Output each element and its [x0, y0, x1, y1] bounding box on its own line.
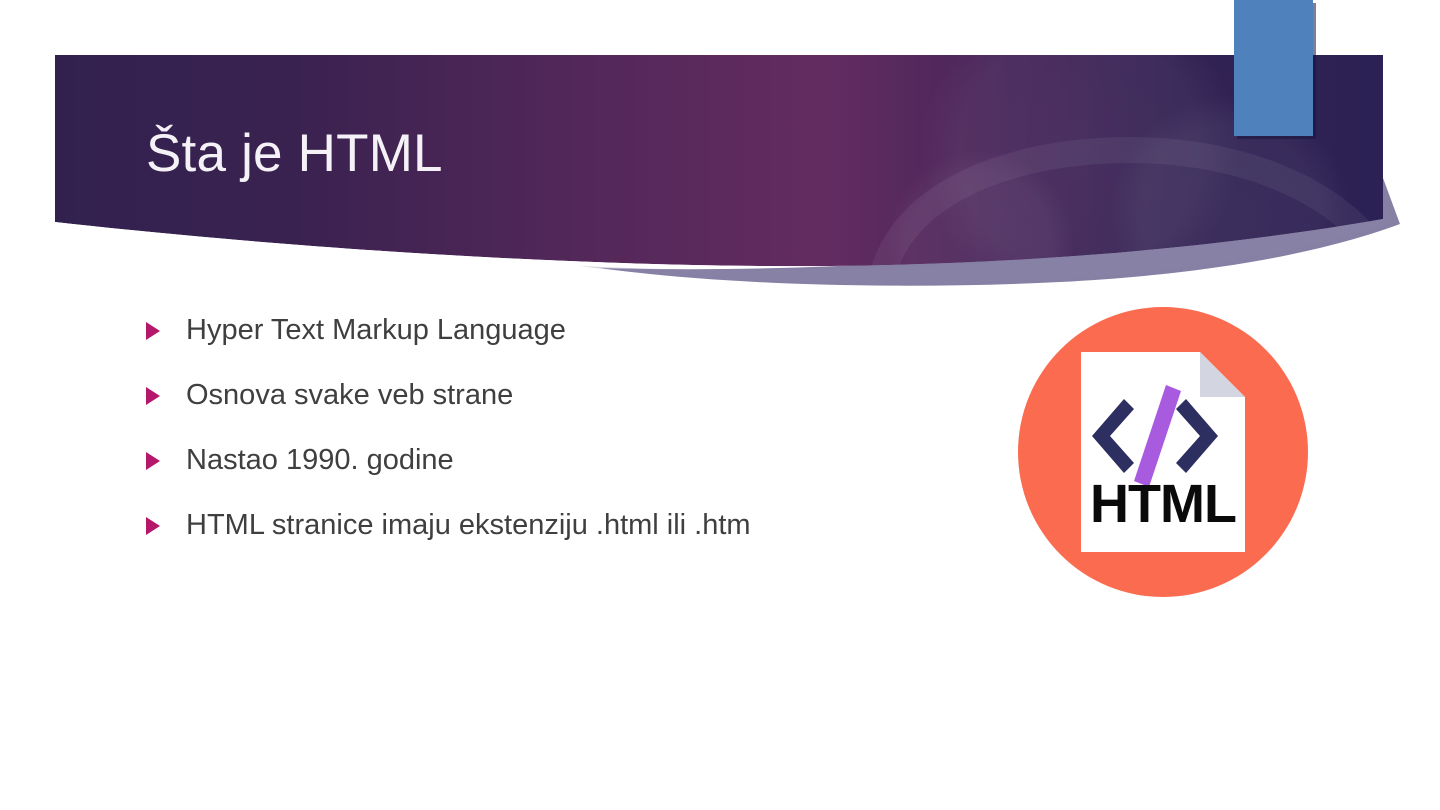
list-item: HTML stranice imaju ekstenziju .html ili… — [146, 505, 946, 570]
logo-label: HTML — [1090, 474, 1236, 534]
list-item: Osnova svake veb strane — [146, 375, 946, 440]
bullet-list: Hyper Text Markup Language Osnova svake … — [146, 310, 946, 570]
triangle-bullet-icon — [146, 452, 160, 470]
triangle-bullet-icon — [146, 322, 160, 340]
bullet-text: Osnova svake veb strane — [186, 375, 513, 415]
triangle-bullet-icon — [146, 387, 160, 405]
list-item: Hyper Text Markup Language — [146, 310, 946, 375]
slide: Šta je HTML Hyper Text Markup Language O… — [0, 0, 1440, 810]
bullet-text: Nastao 1990. godine — [186, 440, 454, 480]
page-title: Šta je HTML — [146, 124, 443, 184]
triangle-bullet-icon — [146, 517, 160, 535]
bullet-text: Hyper Text Markup Language — [186, 310, 566, 350]
list-item: Nastao 1990. godine — [146, 440, 946, 505]
blue-accent-rectangle — [1234, 0, 1313, 136]
banner-swoosh-layer — [580, 178, 1400, 286]
bullet-text: HTML stranice imaju ekstenziju .html ili… — [186, 505, 751, 545]
html-file-logo: HTML — [1018, 307, 1308, 597]
